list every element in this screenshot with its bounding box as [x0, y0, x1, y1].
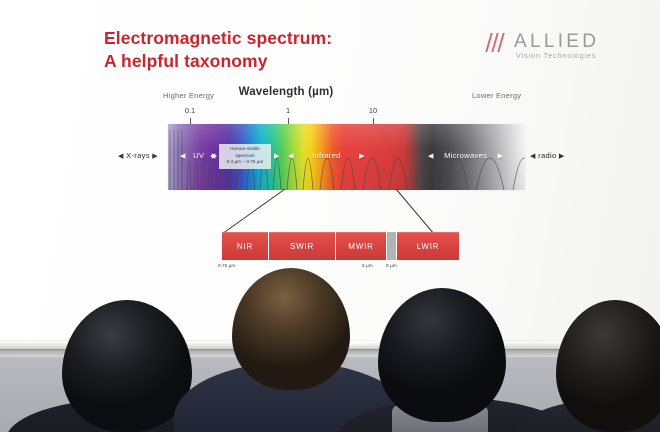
x-rays-text: X-rays: [126, 151, 150, 160]
uv-text: UV: [188, 151, 209, 160]
tick-label-0.1: 0.1: [185, 106, 195, 115]
visible-right-arrow-icon: ▶: [274, 152, 280, 160]
wavelength-axis-title: Wavelength (µm): [239, 86, 334, 98]
band-label-radio: ◀ radio ▶: [530, 151, 565, 160]
callout-connector-lines: [0, 188, 660, 236]
tick-label-10: 10: [369, 106, 377, 115]
presentation-scene: Electromagnetic spectrum: A helpful taxo…: [0, 0, 660, 432]
slide-title-line1: Electromagnetic spectrum:: [104, 28, 332, 48]
logo-wordmark: ALLIED: [514, 31, 599, 53]
visible-right-arrow: ▶: [274, 151, 280, 160]
logo-tagline: Vision Technologies: [516, 51, 596, 60]
band-label-microwaves: ◀ Microwaves ▶: [428, 151, 503, 160]
infrared-subband-bar: NIR SWIR MWIR LWIR: [222, 232, 434, 260]
slide-title-line2: A helpful taxonomy: [104, 50, 404, 73]
radio-right-arrow-icon: ▶: [559, 152, 565, 160]
logo-slashes-icon: [486, 33, 512, 53]
lower-wall: [0, 357, 660, 432]
irseg-mwir: MWIR: [336, 232, 386, 260]
microwaves-text: Microwaves: [436, 151, 495, 160]
infrared-left-arrow-icon: ◀: [288, 152, 294, 160]
human-visible-spectrum-box: Human-visible spectrum 0.4 µm – 0.75 µm: [219, 144, 271, 169]
tick-label-1: 1: [286, 106, 290, 115]
radio-text: radio: [538, 151, 556, 160]
slide-title: Electromagnetic spectrum: A helpful taxo…: [104, 27, 404, 73]
visible-left-arrow-icon: ◀: [210, 152, 216, 160]
ledge-highlight: [288, 340, 398, 345]
projected-slide: Electromagnetic spectrum: A helpful taxo…: [0, 0, 660, 300]
allied-vision-logo: ALLIED Vision Technologies: [486, 31, 610, 61]
band-label-x-rays: ◀ X-rays ▶: [118, 151, 158, 160]
irtick-0.75um: 0.75 µm: [218, 264, 235, 269]
infrared-text: Infrared: [296, 151, 357, 160]
x-rays-right-arrow-icon: ▶: [152, 152, 158, 160]
radio-left-arrow-icon: ◀: [530, 152, 536, 160]
irtick-8um: 8 µm: [386, 264, 397, 269]
lower-energy-label: Lower Energy: [472, 91, 521, 100]
visible-left-arrow: ◀: [210, 151, 216, 160]
microwaves-right-arrow-icon: ▶: [498, 152, 504, 160]
higher-energy-label: Higher Energy: [163, 91, 214, 100]
irseg-gap: [387, 232, 396, 260]
band-label-infrared: ◀ Infrared ▶: [288, 151, 365, 160]
irseg-nir: NIR: [222, 232, 268, 260]
microwaves-left-arrow-icon: ◀: [428, 152, 434, 160]
irseg-swir: SWIR: [269, 232, 335, 260]
visible-line3: 0.4 µm – 0.75 µm: [219, 159, 271, 166]
irtick-5um: 5 µm: [362, 264, 373, 269]
uv-left-arrow-icon: ◀: [180, 152, 186, 160]
irseg-lwir: LWIR: [397, 232, 459, 260]
x-rays-left-arrow-icon: ◀: [118, 152, 124, 160]
infrared-right-arrow-icon: ▶: [359, 152, 365, 160]
